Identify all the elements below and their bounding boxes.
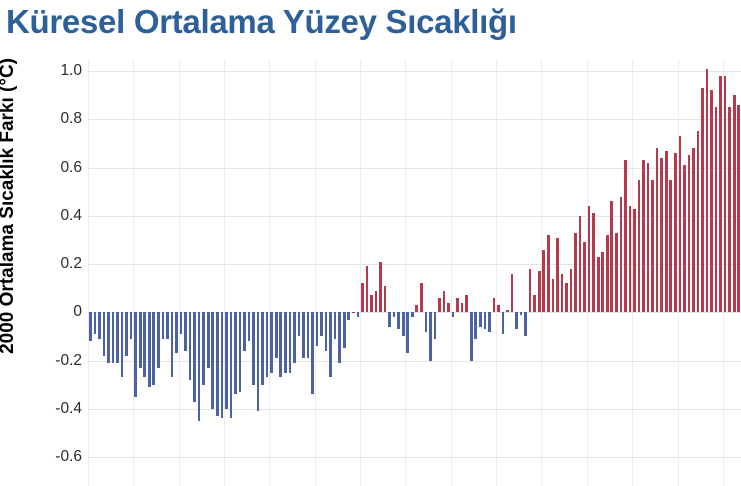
bar bbox=[393, 312, 396, 317]
bar bbox=[98, 312, 101, 339]
bar bbox=[230, 312, 233, 418]
bar bbox=[683, 165, 686, 312]
gridline-vertical bbox=[88, 59, 89, 486]
bar bbox=[157, 312, 160, 367]
bar bbox=[538, 271, 541, 312]
bar bbox=[284, 312, 287, 372]
bar bbox=[207, 312, 210, 367]
bar bbox=[361, 283, 364, 312]
bar bbox=[216, 312, 219, 416]
bar bbox=[474, 312, 477, 339]
y-axis-tick-label: -0.4 bbox=[6, 401, 82, 417]
bar bbox=[211, 312, 214, 408]
y-axis-tick-label: 0.8 bbox=[6, 111, 82, 127]
bar bbox=[488, 312, 491, 331]
bar bbox=[343, 312, 346, 348]
bar bbox=[302, 312, 305, 358]
bar bbox=[511, 274, 514, 313]
bar bbox=[370, 295, 373, 312]
bar bbox=[701, 88, 704, 312]
bar bbox=[279, 312, 282, 377]
bar bbox=[388, 312, 391, 326]
bar bbox=[660, 158, 663, 312]
y-axis-tick-label: -0.2 bbox=[6, 353, 82, 369]
bar bbox=[316, 312, 319, 346]
bar bbox=[669, 180, 672, 313]
bar bbox=[415, 305, 418, 312]
bar bbox=[452, 312, 455, 317]
bar bbox=[520, 312, 523, 314]
bar bbox=[420, 283, 423, 312]
bar bbox=[171, 312, 174, 377]
bar bbox=[688, 155, 691, 312]
bar bbox=[547, 235, 550, 312]
bar bbox=[184, 312, 187, 351]
bar bbox=[162, 312, 165, 339]
gridline-vertical bbox=[315, 59, 316, 486]
bar bbox=[465, 295, 468, 312]
bar bbox=[275, 312, 278, 358]
bar bbox=[710, 90, 713, 312]
gridline-vertical bbox=[451, 59, 452, 486]
bar bbox=[125, 312, 128, 355]
bar bbox=[647, 163, 650, 313]
bar bbox=[724, 76, 727, 312]
bar bbox=[266, 312, 269, 377]
bar bbox=[357, 312, 360, 317]
bar bbox=[384, 286, 387, 313]
gridline-horizontal bbox=[88, 71, 741, 72]
bar bbox=[112, 312, 115, 363]
bar bbox=[143, 312, 146, 377]
bar bbox=[411, 312, 414, 317]
bar bbox=[352, 312, 355, 313]
bar bbox=[493, 298, 496, 312]
bar bbox=[719, 76, 722, 312]
bar bbox=[524, 312, 527, 336]
bar bbox=[620, 197, 623, 313]
bar bbox=[379, 262, 382, 313]
bar bbox=[733, 95, 736, 312]
bar bbox=[624, 160, 627, 312]
bar bbox=[447, 303, 450, 313]
gridline-vertical bbox=[179, 59, 180, 486]
bar bbox=[592, 213, 595, 312]
plot-area bbox=[88, 59, 741, 486]
bar bbox=[107, 312, 110, 363]
chart-title: Küresel Ortalama Yüzey Sıcaklığı bbox=[6, 2, 517, 42]
bar bbox=[320, 312, 323, 336]
bar bbox=[629, 206, 632, 312]
bar bbox=[347, 312, 350, 319]
bar bbox=[552, 279, 555, 313]
bar bbox=[479, 312, 482, 326]
bar bbox=[674, 153, 677, 312]
bar bbox=[429, 312, 432, 360]
bar bbox=[615, 233, 618, 313]
bar bbox=[692, 148, 695, 312]
bar bbox=[737, 105, 740, 312]
bar bbox=[234, 312, 237, 394]
bar bbox=[529, 269, 532, 312]
gridline-horizontal bbox=[88, 409, 741, 410]
bar bbox=[307, 312, 310, 358]
bar bbox=[638, 180, 641, 313]
bar bbox=[438, 298, 441, 312]
bar bbox=[329, 312, 332, 377]
bar bbox=[334, 312, 337, 339]
y-axis-tick-label: 1.0 bbox=[6, 63, 82, 79]
bar bbox=[484, 312, 487, 329]
y-axis-tick-labels: 1.00.80.60.40.20-0.2-0.4-0.6 bbox=[0, 0, 82, 486]
bar bbox=[180, 312, 183, 334]
y-axis-tick-label: 0.4 bbox=[6, 208, 82, 224]
bar bbox=[198, 312, 201, 421]
bar bbox=[642, 160, 645, 312]
bar bbox=[193, 312, 196, 401]
bar bbox=[225, 312, 228, 408]
gridline-vertical bbox=[269, 59, 270, 486]
bar bbox=[257, 312, 260, 411]
bar bbox=[116, 312, 119, 363]
bar bbox=[261, 312, 264, 384]
bar bbox=[461, 303, 464, 313]
chart-container: Küresel Ortalama Yüzey Sıcaklığı 2000 Or… bbox=[0, 0, 741, 486]
bar bbox=[402, 312, 405, 336]
y-axis-tick-label: -0.6 bbox=[6, 449, 82, 465]
bar bbox=[610, 201, 613, 312]
bar bbox=[665, 151, 668, 313]
gridline-horizontal bbox=[88, 119, 741, 120]
bar bbox=[601, 252, 604, 312]
bar bbox=[597, 257, 600, 312]
gridline-vertical bbox=[224, 59, 225, 486]
bar bbox=[270, 312, 273, 372]
bar bbox=[470, 312, 473, 360]
y-axis-tick-label: 0.2 bbox=[6, 256, 82, 272]
y-axis-tick-label: 0 bbox=[6, 304, 82, 320]
bar bbox=[148, 312, 151, 387]
bar bbox=[239, 312, 242, 392]
bar bbox=[561, 274, 564, 313]
gridline-vertical bbox=[360, 59, 361, 486]
bar bbox=[397, 312, 400, 329]
bar bbox=[502, 312, 505, 334]
bar bbox=[583, 242, 586, 312]
y-axis-tick-label: 0.6 bbox=[6, 160, 82, 176]
bar bbox=[338, 312, 341, 363]
bar bbox=[574, 233, 577, 313]
bar bbox=[728, 107, 731, 312]
bar bbox=[579, 216, 582, 312]
bar bbox=[588, 206, 591, 312]
bar bbox=[715, 107, 718, 312]
bar bbox=[697, 131, 700, 312]
bar bbox=[152, 312, 155, 384]
bar bbox=[651, 180, 654, 313]
bar bbox=[497, 305, 500, 312]
gridline-horizontal bbox=[88, 361, 741, 362]
bar bbox=[425, 312, 428, 331]
bar bbox=[311, 312, 314, 394]
bar bbox=[175, 312, 178, 353]
gridline-vertical bbox=[133, 59, 134, 486]
gridline-horizontal bbox=[88, 457, 741, 458]
bar bbox=[293, 312, 296, 363]
bar bbox=[406, 312, 409, 353]
bar bbox=[506, 310, 509, 312]
bar bbox=[121, 312, 124, 377]
bar bbox=[456, 298, 459, 312]
bar bbox=[633, 209, 636, 313]
bar bbox=[248, 312, 251, 341]
bar bbox=[189, 312, 192, 380]
bar bbox=[139, 312, 142, 367]
bar bbox=[679, 136, 682, 312]
bar bbox=[565, 283, 568, 312]
bar bbox=[366, 266, 369, 312]
bar bbox=[89, 312, 92, 341]
bar bbox=[656, 148, 659, 312]
bar bbox=[706, 69, 709, 313]
bar bbox=[434, 312, 437, 339]
bar bbox=[375, 291, 378, 313]
gridline-vertical bbox=[496, 59, 497, 486]
bar bbox=[202, 312, 205, 384]
bar bbox=[130, 312, 133, 339]
bar bbox=[289, 312, 292, 372]
bar bbox=[606, 235, 609, 312]
bar bbox=[103, 312, 106, 355]
bar bbox=[556, 238, 559, 313]
bar bbox=[221, 312, 224, 418]
gridline-vertical bbox=[405, 59, 406, 486]
bar bbox=[533, 295, 536, 312]
bar bbox=[134, 312, 137, 396]
bar bbox=[443, 291, 446, 313]
bar bbox=[252, 312, 255, 384]
bar bbox=[298, 312, 301, 336]
bar bbox=[166, 312, 169, 339]
bar bbox=[515, 312, 518, 329]
bar bbox=[542, 250, 545, 313]
bar bbox=[94, 312, 97, 334]
bar bbox=[325, 312, 328, 351]
bar bbox=[243, 312, 246, 351]
bar bbox=[570, 269, 573, 312]
